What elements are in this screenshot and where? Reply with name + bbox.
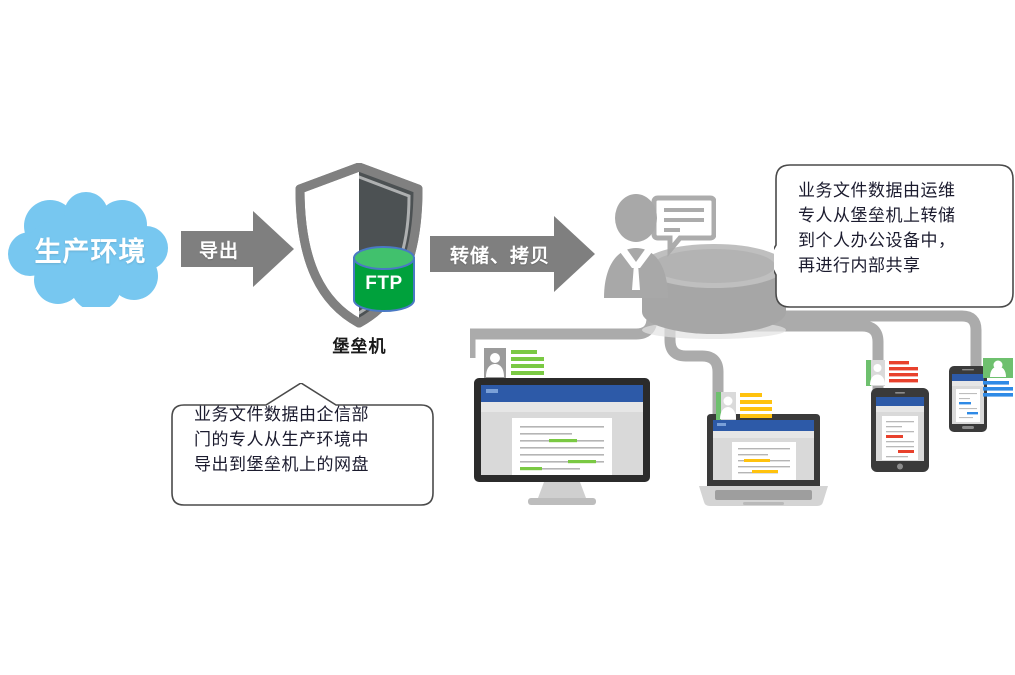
callout-left-text: 业务文件数据由企信部 门的专人从生产环境中 导出到堡垒机上的网盘: [194, 402, 410, 477]
card-icon: [716, 392, 774, 422]
ftp-database-cylinder: FTP: [352, 246, 416, 312]
callout-right-text: 业务文件数据由运维 专人从堡垒机上转储 到个人办公设备中， 再进行内部共享: [798, 178, 996, 278]
laptop-icon: [697, 414, 830, 510]
arrow-export-label: 导出: [181, 211, 294, 287]
monitor-icon: [474, 378, 650, 508]
arrow-transfer-copy-label: 转储、拷贝: [430, 216, 595, 292]
arrow-export: 导出: [181, 211, 294, 287]
mobile-phone: [949, 366, 987, 432]
callout-right: 业务文件数据由运维 专人从堡垒机上转储 到个人办公设备中， 再进行内部共享: [774, 163, 1015, 311]
arrow-transfer-copy: 转储、拷贝: [430, 216, 595, 292]
desktop-monitor: [474, 378, 650, 508]
tablet-icon: [871, 388, 929, 472]
card-icon: [983, 358, 1015, 402]
contact-card-monitor: [484, 348, 546, 380]
cloud-label: 生产环境: [8, 192, 173, 307]
contact-card-phone: [983, 358, 1015, 402]
bastion-host-label: 堡垒机: [292, 332, 427, 357]
person-icon: [596, 190, 716, 310]
diagram-canvas: 生产环境 导出 FTP 堡垒机 转储、拷贝: [0, 0, 1015, 675]
contact-card-tablet: [866, 360, 920, 388]
ftp-label: FTP: [352, 256, 416, 312]
contact-card-laptop: [716, 392, 774, 422]
production-environment-cloud: 生产环境: [8, 192, 173, 307]
card-icon: [484, 348, 546, 380]
operations-staff-icon: [596, 190, 716, 310]
phone-icon: [949, 366, 987, 432]
callout-left: 业务文件数据由企信部 门的专人从生产环境中 导出到堡垒机上的网盘: [170, 383, 435, 508]
card-icon: [866, 360, 920, 388]
tablet-device: [871, 388, 929, 472]
laptop-computer: [697, 414, 830, 510]
